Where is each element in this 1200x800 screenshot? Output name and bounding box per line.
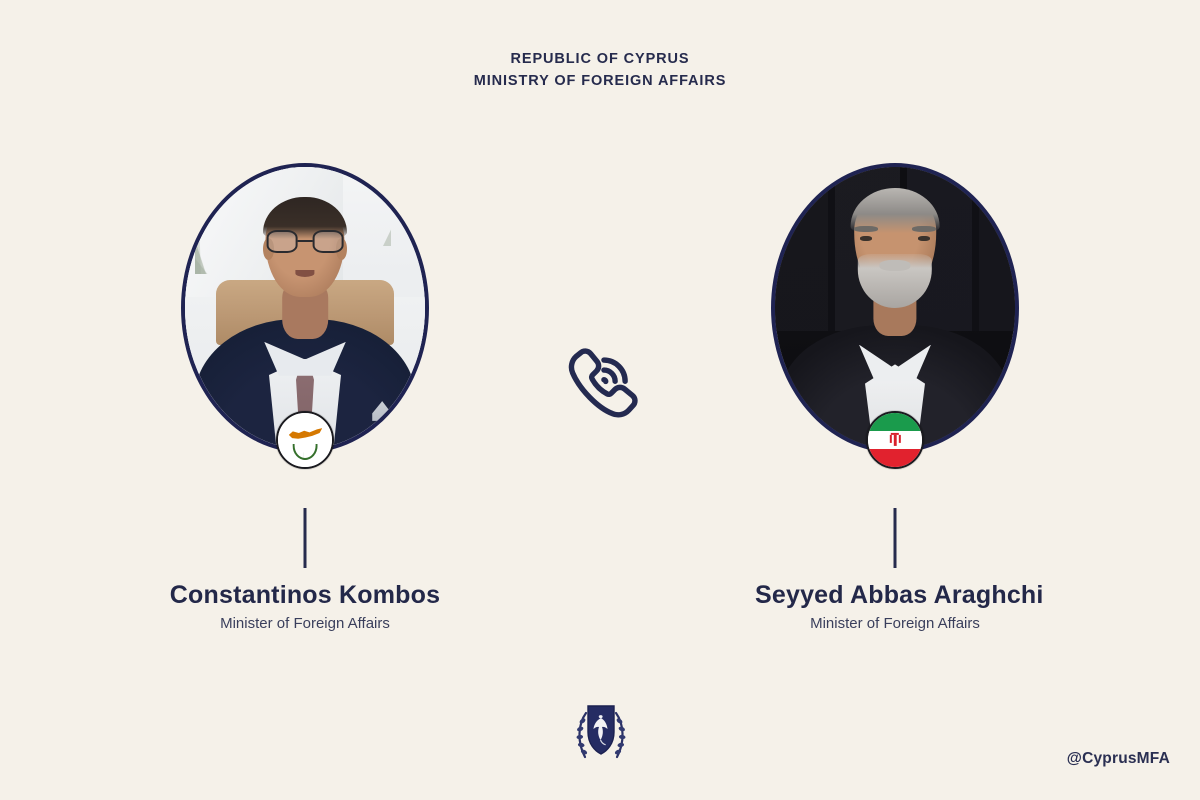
iran-flag-badge (866, 411, 924, 469)
eye-left (860, 236, 872, 241)
eyebrow-right (912, 226, 936, 232)
label-block-left: Constantinos Kombos Minister of Foreign … (165, 581, 445, 632)
person-name-left: Constantinos Kombos (165, 581, 445, 610)
label-block-right: Seyyed Abbas Araghchi Minister of Foreig… (755, 581, 1035, 632)
composition-stage: Constantinos Kombos Minister of Foreign … (0, 0, 1200, 800)
portrait-frame-left (181, 163, 429, 453)
connector-line-right (894, 508, 897, 568)
portrait-seyyed-abbas-araghchi (775, 167, 1015, 449)
portrait-oval-left (181, 163, 429, 453)
portrait-oval-right (771, 163, 1019, 453)
iran-emblem-icon (886, 432, 904, 448)
social-handle: @CyprusMFA (1067, 750, 1170, 768)
iran-flag-red-band (868, 449, 922, 467)
iran-flag-green-band (868, 413, 922, 431)
person-role-right: Minister of Foreign Affairs (755, 615, 1035, 632)
person-name-right: Seyyed Abbas Araghchi (755, 581, 1035, 610)
portrait-constantinos-kombos (185, 167, 425, 449)
eye-right (918, 236, 930, 241)
phone-call-icon (563, 343, 639, 423)
cyprus-flag-badge (276, 411, 334, 469)
eyeglasses (267, 230, 344, 253)
cyprus-island-shape (289, 428, 322, 444)
portrait-frame-right (771, 163, 1019, 453)
cyprus-coat-of-arms (573, 700, 629, 766)
connector-line-left (304, 508, 307, 568)
moustache (879, 260, 910, 271)
person-role-left: Minister of Foreign Affairs (165, 615, 445, 632)
person-card-right: Seyyed Abbas Araghchi Minister of Foreig… (755, 163, 1035, 453)
cyprus-flag-field (278, 413, 332, 467)
person-card-left: Constantinos Kombos Minister of Foreign … (165, 163, 445, 453)
iran-flag-field (868, 413, 922, 467)
olive-branches (293, 444, 318, 458)
